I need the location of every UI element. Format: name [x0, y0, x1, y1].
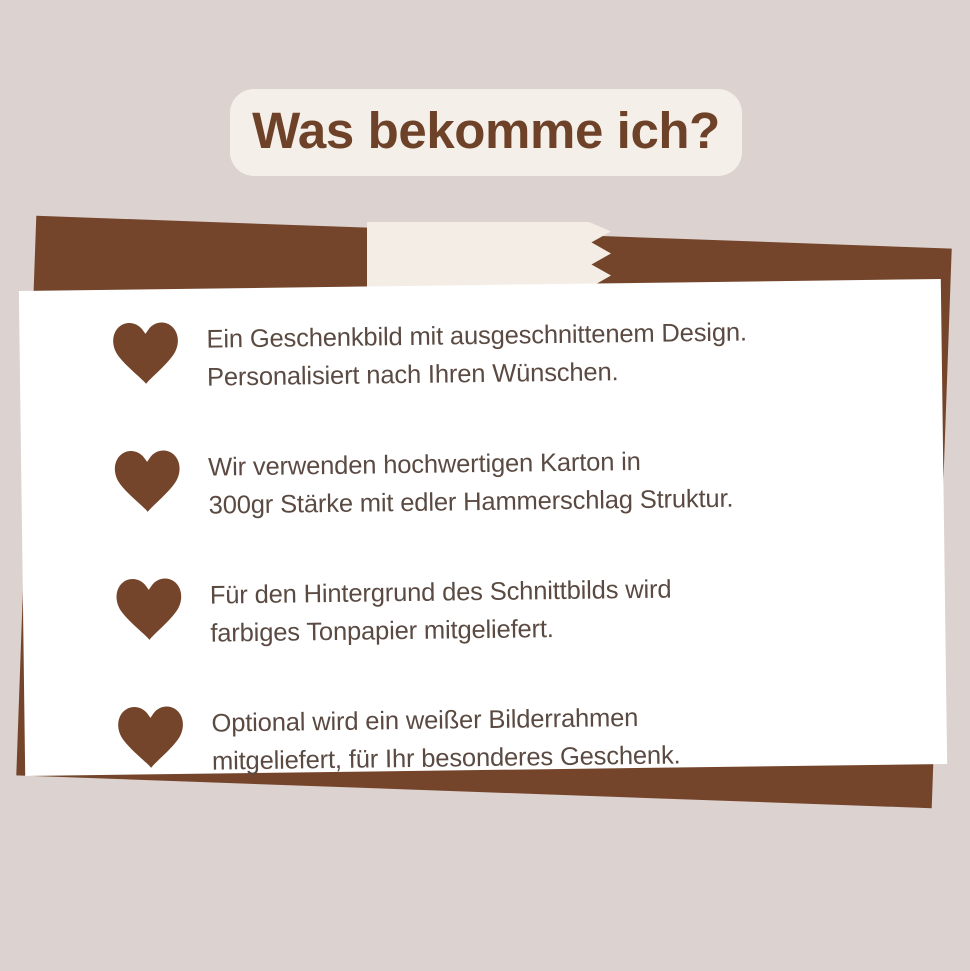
- list-item-line: Ein Geschenkbild mit ausgeschnittenem De…: [206, 314, 747, 359]
- benefits-list: Ein Geschenkbild mit ausgeschnittenem De…: [111, 308, 907, 782]
- poster-canvas: Was bekomme ich? Ein Geschenkbild mit au…: [0, 0, 970, 971]
- heart-icon: [113, 447, 182, 514]
- list-item-line: farbiges Tonpapier mitgeliefert.: [210, 609, 672, 653]
- list-item: Wir verwenden hochwertigen Karton in 300…: [113, 435, 904, 525]
- content-card: Ein Geschenkbild mit ausgeschnittenem De…: [19, 279, 947, 776]
- list-item: Ein Geschenkbild mit ausgeschnittenem De…: [111, 308, 902, 398]
- list-item-text: Ein Geschenkbild mit ausgeschnittenem De…: [206, 310, 747, 397]
- page-title: Was bekomme ich?: [252, 105, 720, 156]
- title-pill: Was bekomme ich?: [230, 89, 742, 176]
- heart-icon: [115, 575, 184, 642]
- list-item-line: 300gr Stärke mit edler Hammerschlag Stru…: [208, 480, 733, 525]
- list-item: Optional wird ein weißer Bilderrahmen mi…: [116, 691, 907, 781]
- list-item-line: mitgeliefert, für Ihr besonderes Geschen…: [212, 736, 681, 780]
- list-item-line: Für den Hintergrund des Schnittbilds wir…: [210, 571, 672, 615]
- list-item-text: Wir verwenden hochwertigen Karton in 300…: [208, 438, 734, 525]
- list-item: Für den Hintergrund des Schnittbilds wir…: [115, 563, 906, 653]
- list-item-line: Optional wird ein weißer Bilderrahmen: [211, 698, 680, 742]
- heart-icon: [111, 319, 180, 386]
- list-item-text: Für den Hintergrund des Schnittbilds wir…: [210, 567, 673, 653]
- list-item-line: Personalisiert nach Ihren Wünschen.: [207, 352, 748, 397]
- list-item-text: Optional wird ein weißer Bilderrahmen mi…: [211, 694, 681, 780]
- heart-icon: [116, 703, 185, 770]
